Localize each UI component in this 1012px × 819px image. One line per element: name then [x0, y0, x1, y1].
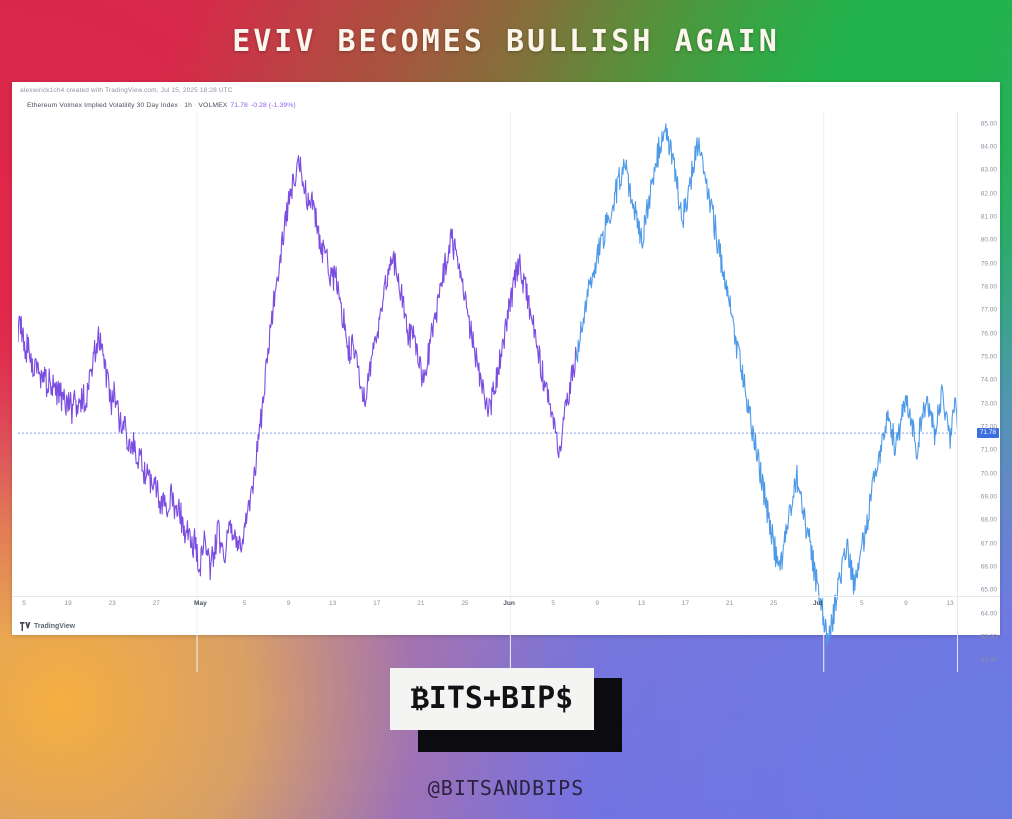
price-tick: 69.00: [981, 494, 997, 501]
price-tick: 63.00: [981, 634, 997, 641]
legend-last-value: 71.78: [227, 102, 248, 109]
page-title: EVIV BECOMES BULLISH AGAIN: [0, 0, 1012, 82]
time-tick: 5: [22, 600, 26, 607]
chart-attribution: alexwirick1ch4 created with TradingView.…: [20, 87, 233, 94]
time-tick: 27: [153, 600, 160, 607]
time-tick: 17: [682, 600, 689, 607]
price-tick: 75.00: [981, 354, 997, 361]
price-tick: 66.00: [981, 564, 997, 571]
time-tick: 25: [461, 600, 468, 607]
chart-card: alexwirick1ch4 created with TradingView.…: [12, 82, 1000, 635]
chart-plot-area[interactable]: [18, 112, 958, 672]
tradingview-mark: [20, 622, 31, 631]
time-tick: 17: [373, 600, 380, 607]
price-tick: 65.00: [981, 587, 997, 594]
price-series: [18, 112, 958, 672]
legend-exchange: VOLMEX: [198, 102, 227, 109]
social-handle: @BITSANDBIPS: [0, 776, 1012, 800]
time-tick: 5: [551, 600, 555, 607]
series-line-bullish: [18, 156, 576, 580]
tradingview-label: TradingView: [34, 623, 75, 630]
time-tick: 9: [595, 600, 599, 607]
price-tick: 85.00: [981, 120, 997, 127]
chart-legend[interactable]: Ethereum Volmex Implied Volatility 30 Da…: [27, 102, 296, 109]
series-line-bearish: [576, 124, 958, 647]
time-tick: 21: [726, 600, 733, 607]
price-tick: 67.00: [981, 540, 997, 547]
time-scale[interactable]: 5192327May5913172125Jun5913172125Jul5913: [12, 596, 1000, 613]
price-tick: 76.00: [981, 330, 997, 337]
price-tick: 81.00: [981, 214, 997, 221]
logo-plate: ₿ITS+BIP$: [390, 668, 594, 730]
time-tick: 23: [109, 600, 116, 607]
price-tick: 72.00: [981, 424, 997, 431]
price-tick: 74.00: [981, 377, 997, 384]
legend-change-value: -0.28 (-1.39%): [248, 102, 296, 109]
time-tick: Jun: [503, 600, 515, 607]
time-tick: 21: [417, 600, 424, 607]
legend-instrument: Ethereum Volmex Implied Volatility 30 Da…: [27, 102, 178, 109]
time-tick: May: [194, 600, 207, 607]
price-tick: 73.00: [981, 400, 997, 407]
time-tick: 13: [946, 600, 953, 607]
price-tick: 77.00: [981, 307, 997, 314]
logo-text: ₿ITS+BIP$: [411, 681, 574, 718]
price-tick: 70.00: [981, 470, 997, 477]
time-tick: Jul: [813, 600, 822, 607]
price-tick: 83.00: [981, 167, 997, 174]
price-tick: 82.00: [981, 190, 997, 197]
time-tick: 13: [329, 600, 336, 607]
price-tick: 79.00: [981, 260, 997, 267]
price-scale[interactable]: 71.78 85.0084.0083.0082.0081.0080.0079.0…: [957, 112, 1000, 672]
price-tick: 80.00: [981, 237, 997, 244]
time-tick: 5: [860, 600, 864, 607]
time-tick: 13: [638, 600, 645, 607]
price-tick: 78.00: [981, 284, 997, 291]
brand-logo: ₿ITS+BIP$: [0, 660, 1012, 760]
legend-interval: 1h: [184, 102, 192, 109]
time-tick: 5: [243, 600, 247, 607]
tradingview-logo[interactable]: TradingView: [20, 622, 75, 631]
time-tick: 19: [64, 600, 71, 607]
price-tick: 68.00: [981, 517, 997, 524]
price-tick: 84.00: [981, 144, 997, 151]
price-tick: 71.00: [981, 447, 997, 454]
time-tick: 9: [904, 600, 908, 607]
time-tick: 9: [287, 600, 291, 607]
time-tick: 25: [770, 600, 777, 607]
